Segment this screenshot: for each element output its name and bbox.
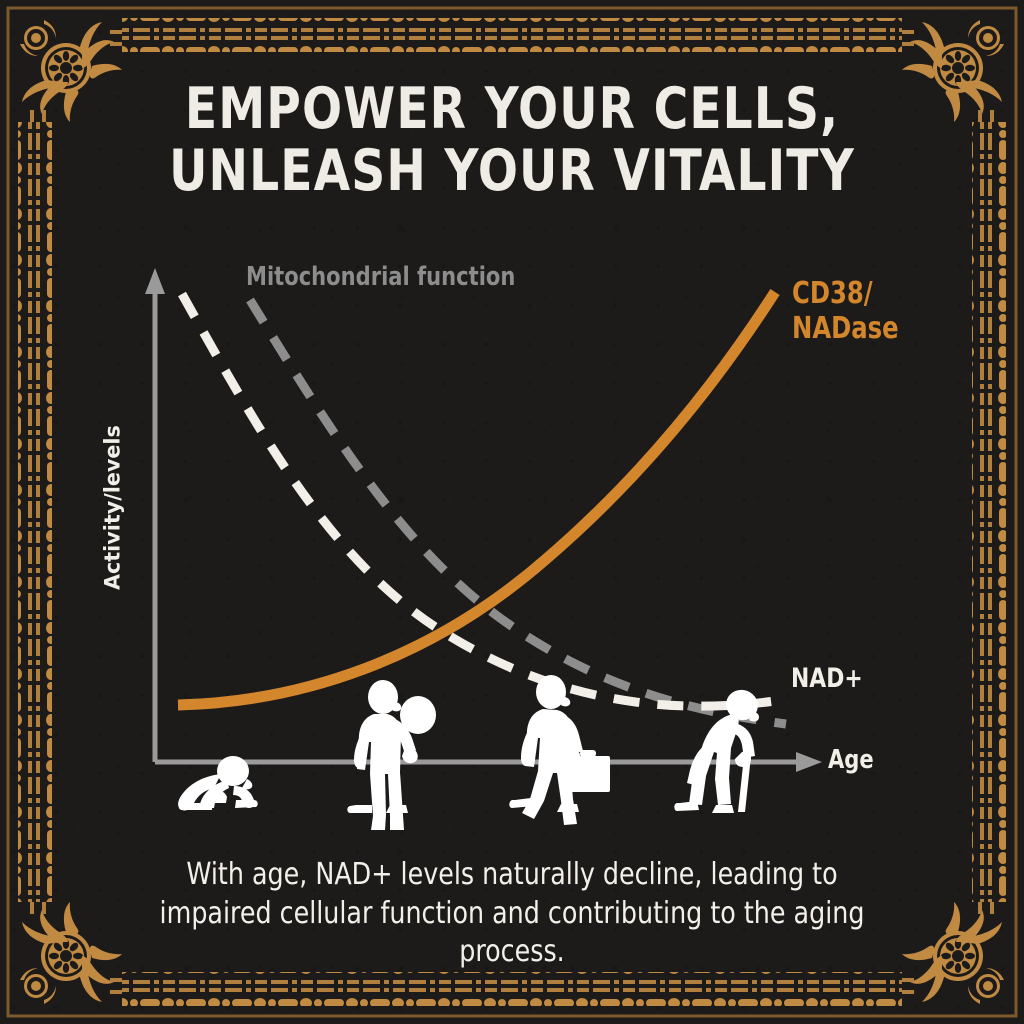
series-label-mitochondrial-function: Mitochondrial function xyxy=(246,262,515,292)
caption-line-2: cellular function and contributing to th… xyxy=(280,896,865,970)
series-label-nad-plus: NAD+ xyxy=(791,663,863,694)
series-line-nad-plus xyxy=(182,294,782,706)
figure-youth-with-ball xyxy=(347,680,436,830)
series-label-cd38-line1: CD38/ xyxy=(792,276,873,311)
x-axis-arrowhead xyxy=(796,752,822,772)
series-line-mitochondrial-function xyxy=(250,300,786,724)
series-line-cd38-nadase xyxy=(178,292,775,705)
series-label-cd38-nadase: CD38/ NADase xyxy=(792,276,899,347)
series-label-cd38-line2: NADase xyxy=(792,311,899,346)
y-axis-arrowhead xyxy=(145,268,165,294)
infographic-poster: Empower your cells, Unleash your vitalit… xyxy=(0,0,1024,1024)
caption: With age, NAD+ levels naturally decline,… xyxy=(136,856,888,972)
y-axis-label: Activity/levels xyxy=(101,425,125,590)
x-axis-label: Age xyxy=(828,745,874,775)
